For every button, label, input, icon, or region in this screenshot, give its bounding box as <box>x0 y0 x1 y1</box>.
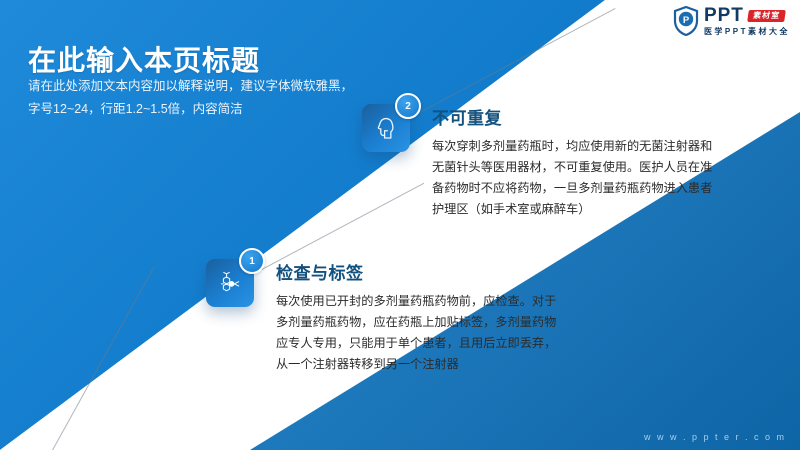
block-title-one: 检查与标签 <box>276 259 558 284</box>
block-body-two: 每次穿刺多剂量药瓶时，均应使用新的无菌注射器和无菌针头等医用器材，不可重复使用。… <box>432 136 722 220</box>
head-profile-icon <box>373 115 399 141</box>
logo-primary-row: PPT 素材室 <box>704 6 790 25</box>
icon-tile-wrapper-one: 1 <box>206 259 254 307</box>
page-title: 在此输入本页标题 <box>28 39 260 79</box>
svg-text:P: P <box>683 15 690 26</box>
block-title-two: 不可重复 <box>432 104 722 129</box>
logo-text-group: PPT 素材室 医学PPT素材大全 <box>704 6 790 36</box>
footer-watermark: w w w . p p t e r . c o m <box>644 432 786 442</box>
page-subtitle: 请在此处添加文本内容加以解释说明，建议字体微软雅黑，字号12~24，行距1.2~… <box>28 75 358 121</box>
step-badge-two: 2 <box>395 93 421 119</box>
content-block-two[interactable]: 2 不可重复 每次穿刺多剂量药瓶时，均应使用新的无菌注射器和无菌针头等医用器材，… <box>362 104 782 220</box>
shield-icon: P <box>673 6 699 36</box>
logo-red-badge: 素材室 <box>747 10 786 22</box>
content-block-one[interactable]: 1 检查与标签 每次使用已开封的多剂量药瓶药物前，应检查。对于多剂量药瓶药物，应… <box>206 259 626 375</box>
logo-tagline: 医学PPT素材大全 <box>704 28 790 36</box>
content-text-two: 不可重复 每次穿刺多剂量药瓶时，均应使用新的无菌注射器和无菌针头等医用器材，不可… <box>432 104 722 220</box>
logo-wordmark: PPT <box>704 6 744 25</box>
step-badge-one: 1 <box>239 248 265 274</box>
slide-canvas: P PPT 素材室 医学PPT素材大全 在此输入本页标题 请在此处添加文本内容加… <box>0 0 800 450</box>
icon-tile-wrapper-two: 2 <box>362 104 410 152</box>
block-body-one: 每次使用已开封的多剂量药瓶药物前，应检查。对于多剂量药瓶药物，应在药瓶上加贴标签… <box>276 291 558 375</box>
molecule-icon <box>217 270 243 296</box>
brand-logo[interactable]: P PPT 素材室 医学PPT素材大全 <box>673 6 790 36</box>
content-text-one: 检查与标签 每次使用已开封的多剂量药瓶药物前，应检查。对于多剂量药瓶药物，应在药… <box>276 259 558 375</box>
